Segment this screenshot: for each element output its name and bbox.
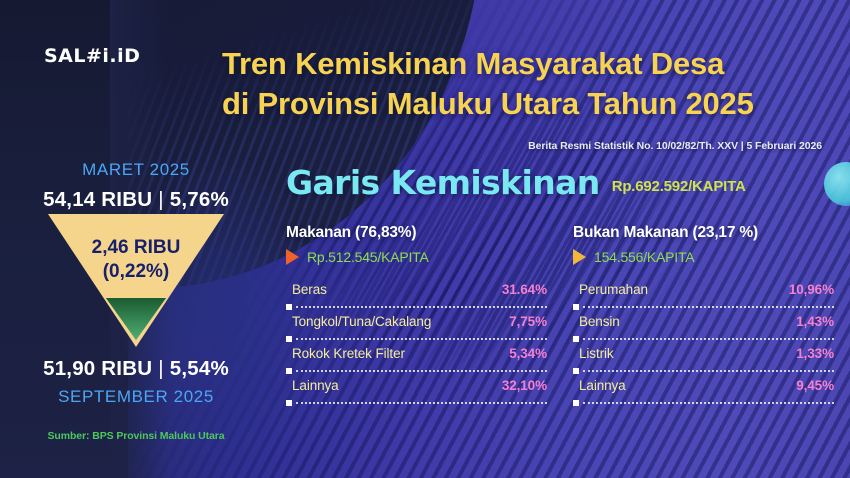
row-value: 31.64% <box>502 282 547 297</box>
row-divider <box>286 301 547 309</box>
row-label: Lainnya <box>292 378 339 393</box>
brand-logo: SAL#i.iD <box>44 45 140 67</box>
row-divider <box>286 365 547 373</box>
page-subtitle: Berita Resmi Statistik No. 10/02/82/Th. … <box>222 140 822 152</box>
row-divider <box>573 397 834 405</box>
column-makanan: Makanan (76,83%) Rp.512.545/KAPITA Beras… <box>286 224 547 405</box>
infographic-canvas: SAL#i.iD Tren Kemiskinan Masyarakat Desa… <box>0 0 850 478</box>
row-label: Beras <box>292 282 327 297</box>
breakdown-columns: Makanan (76,83%) Rp.512.545/KAPITA Beras… <box>286 224 834 405</box>
row-value: 1,33% <box>796 346 834 361</box>
row-label: Bensin <box>579 314 620 329</box>
stat-top-value: 54,14 RIBU <box>43 188 152 211</box>
column-makanan-title: Makanan (76,83%) <box>286 224 547 242</box>
column-bukan-makanan: Bukan Makanan (23,17 %) 154.556/KAPITA P… <box>573 224 834 405</box>
column-bukan-makanan-title: Bukan Makanan (23,17 %) <box>573 224 834 242</box>
triangle-right-icon <box>573 249 586 265</box>
row-label: Listrik <box>579 346 614 361</box>
row-divider <box>573 365 834 373</box>
row-divider <box>573 301 834 309</box>
row-label: Tongkol/Tuna/Cakalang <box>292 314 431 329</box>
row-value: 1,43% <box>796 314 834 329</box>
stat-top-percent: 5,76% <box>170 188 229 211</box>
poverty-line-heading: Garis Kemiskinan <box>286 166 600 199</box>
row-value: 9,45% <box>796 378 834 393</box>
table-row: Lainnya 9,45% <box>573 373 834 397</box>
cyan-accent-dot <box>824 162 850 206</box>
row-value: 32,10% <box>502 378 547 393</box>
page-title-line1: Tren Kemiskinan Masyarakat Desa <box>222 46 724 81</box>
table-row: Bensin 1,43% <box>573 309 834 333</box>
row-label: Rokok Kretek Filter <box>292 346 405 361</box>
column-bukan-makanan-percapita-value: 154.556/KAPITA <box>594 249 694 265</box>
stat-top: 54,14 RIBU|5,76% <box>12 188 260 212</box>
row-label: Lainnya <box>579 378 626 393</box>
table-row: Rokok Kretek Filter 5,34% <box>286 341 547 365</box>
table-row: Lainnya 32,10% <box>286 373 547 397</box>
row-divider <box>286 397 547 405</box>
triangle-down-inner-icon <box>106 298 166 340</box>
column-makanan-percapita-value: Rp.512.545/KAPITA <box>307 249 429 265</box>
table-row: Beras 31.64% <box>286 277 547 301</box>
period-top-label: MARET 2025 <box>12 160 260 180</box>
source-note: Sumber: BPS Provinsi Maluku Utara <box>12 430 260 442</box>
table-row: Listrik 1,33% <box>573 341 834 365</box>
decline-triangle: 2,46 RIBU (0,22%) <box>12 214 260 349</box>
row-label: Perumahan <box>579 282 648 297</box>
stat-bottom: 51,90 RIBU|5,54% <box>12 357 260 381</box>
stat-bottom-value: 51,90 RIBU <box>43 357 152 380</box>
brand-logo-text: SAL#i.iD <box>44 45 140 67</box>
poverty-line-header: Garis Kemiskinan Rp.692.592/KAPITA <box>286 166 746 199</box>
stat-bottom-percent: 5,54% <box>170 357 229 380</box>
column-bukan-makanan-rows: Perumahan 10,96% Bensin 1,43% Listrik 1,… <box>573 277 834 405</box>
page-title-line2: di Provinsi Maluku Utara Tahun 2025 <box>222 84 822 124</box>
decline-values: 2,46 RIBU (0,22%) <box>12 236 260 283</box>
period-bottom-label: SEPTEMBER 2025 <box>12 387 260 407</box>
decline-absolute: 2,46 RIBU <box>12 236 260 260</box>
row-value: 10,96% <box>789 282 834 297</box>
trend-summary-panel: MARET 2025 54,14 RIBU|5,76% 2,46 RIBU (0… <box>12 160 260 407</box>
row-value: 5,34% <box>509 346 547 361</box>
column-makanan-rows: Beras 31.64% Tongkol/Tuna/Cakalang 7,75%… <box>286 277 547 405</box>
page-title: Tren Kemiskinan Masyarakat Desa di Provi… <box>222 44 822 123</box>
triangle-right-icon <box>286 249 299 265</box>
table-row: Perumahan 10,96% <box>573 277 834 301</box>
row-divider <box>286 333 547 341</box>
table-row: Tongkol/Tuna/Cakalang 7,75% <box>286 309 547 333</box>
column-bukan-makanan-percapita: 154.556/KAPITA <box>573 249 834 265</box>
stat-bottom-separator: | <box>152 357 170 381</box>
decline-percent: (0,22%) <box>12 260 260 284</box>
row-value: 7,75% <box>509 314 547 329</box>
poverty-line-value: Rp.692.592/KAPITA <box>612 178 746 199</box>
stat-top-separator: | <box>152 188 170 212</box>
row-divider <box>573 333 834 341</box>
column-makanan-percapita: Rp.512.545/KAPITA <box>286 249 547 265</box>
